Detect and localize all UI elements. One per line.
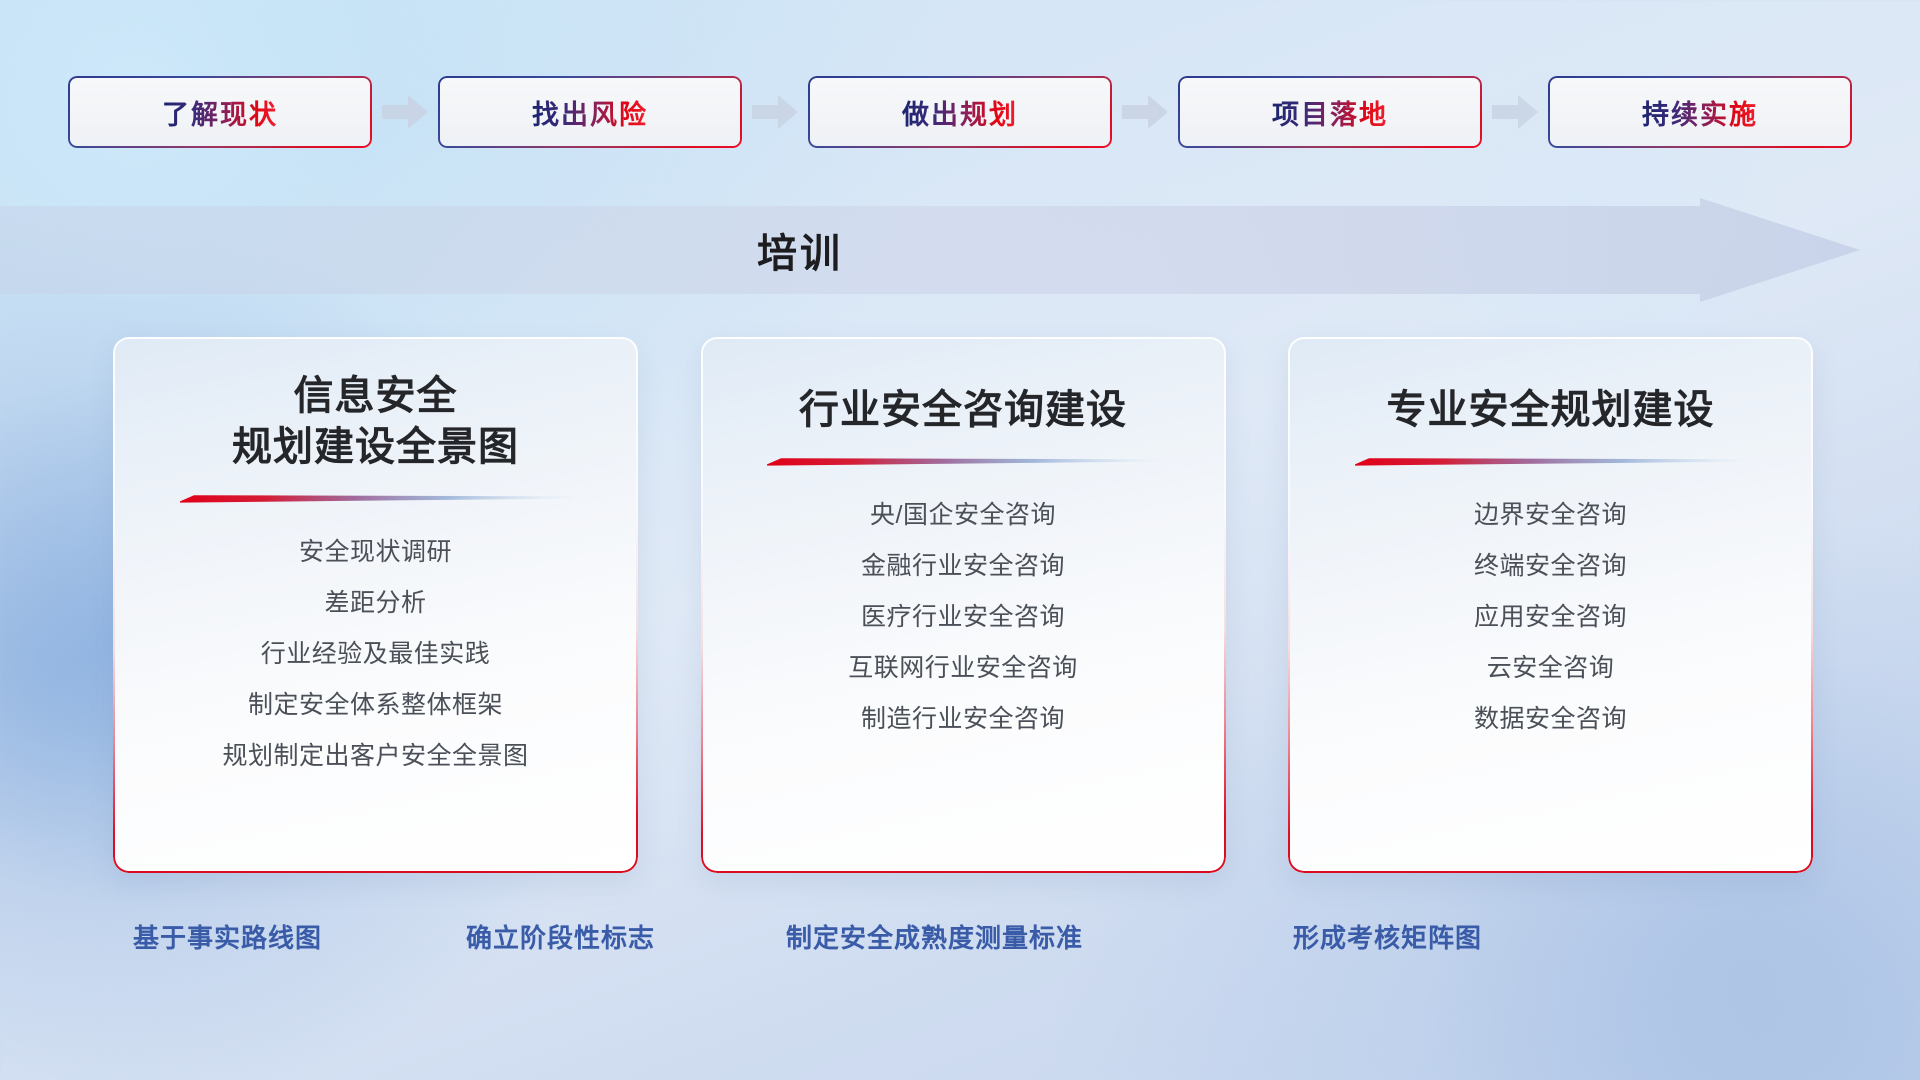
list-item: 应用安全咨询 [1474,592,1627,643]
card-information-security-panorama[interactable]: 信息安全 规划建设全景图 安全现状调研 差距分析 行 [113,337,638,873]
list-item: 规划制定出客户安全全景图 [222,731,528,782]
list-item: 制造行业安全咨询 [861,694,1065,745]
list-item: 数据安全咨询 [1474,694,1627,745]
card-title: 专业安全规划建设 [1288,385,1813,436]
list-item: 边界安全咨询 [1474,490,1627,541]
list-item: 制定安全体系整体框架 [248,680,503,731]
card-professional-security-planning[interactable]: 专业安全规划建设 边界安全咨询 终端安全咨询 应用安 [1288,337,1813,873]
step-box-2[interactable]: 找出风险 [438,76,742,148]
step-arrow-icon [752,95,798,129]
step-label: 了解现状 [162,93,278,132]
card-item-list: 安全现状调研 差距分析 行业经验及最佳实践 制定安全体系整体框架 规划制定出客户… [113,527,638,782]
card-title: 行业安全咨询建设 [701,385,1226,436]
step-arrow-icon [1492,95,1538,129]
list-item: 央/国企安全咨询 [870,490,1056,541]
list-item: 差距分析 [324,578,426,629]
caption-milestone: 确立阶段性标志 [466,918,655,955]
list-item: 金融行业安全咨询 [861,541,1065,592]
caption-matrix: 形成考核矩阵图 [1293,918,1482,955]
card-divider [767,456,1159,466]
list-item: 安全现状调研 [299,527,452,578]
list-item: 终端安全咨询 [1474,541,1627,592]
list-item: 互联网行业安全咨询 [848,643,1078,694]
step-label: 做出规划 [902,93,1018,132]
card-divider [180,493,572,503]
caption-row: 基于事实路线图 确立阶段性标志 制定安全成熟度测量标准 形成考核矩阵图 [0,918,1920,968]
step-label: 找出风险 [532,93,648,132]
step-box-4[interactable]: 项目落地 [1178,76,1482,148]
step-box-3[interactable]: 做出规划 [808,76,1112,148]
step-label: 项目落地 [1272,93,1388,132]
step-arrow-icon [1122,95,1168,129]
list-item: 云安全咨询 [1487,643,1615,694]
card-item-list: 边界安全咨询 终端安全咨询 应用安全咨询 云安全咨询 数据安全咨询 [1288,490,1813,745]
step-label: 持续实施 [1642,93,1758,132]
card-title: 信息安全 规划建设全景图 [113,371,638,473]
step-box-1[interactable]: 了解现状 [68,76,372,148]
step-arrow-icon [382,95,428,129]
caption-roadmap: 基于事实路线图 [133,918,322,955]
process-step-row: 了解现状 找出风险 做出规划 项目落地 持续实施 [68,76,1852,148]
list-item: 医疗行业安全咨询 [861,592,1065,643]
training-banner-arrow: 培训 [0,198,1860,302]
card-divider [1355,456,1747,466]
card-industry-security-consulting[interactable]: 行业安全咨询建设 央/国企安全咨询 金融行业安全咨询 [701,337,1226,873]
step-box-5[interactable]: 持续实施 [1548,76,1852,148]
card-row: 信息安全 规划建设全景图 安全现状调研 差距分析 行 [113,337,1813,873]
card-item-list: 央/国企安全咨询 金融行业安全咨询 医疗行业安全咨询 互联网行业安全咨询 制造行… [701,490,1226,745]
banner-title: 培训 [0,198,1600,302]
caption-maturity: 制定安全成熟度测量标准 [786,918,1083,955]
list-item: 行业经验及最佳实践 [261,629,491,680]
